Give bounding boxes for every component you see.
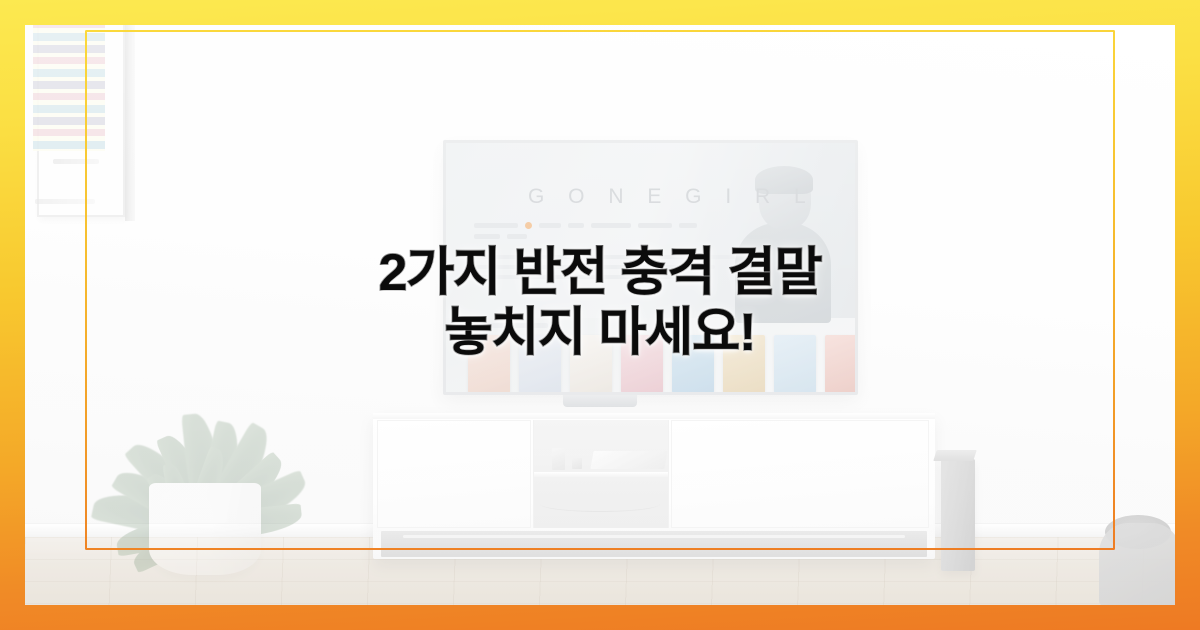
art-signature	[53, 159, 99, 164]
tv-metadata	[474, 223, 764, 245]
tv-movie-title: G O N E G I R L	[528, 185, 815, 209]
poster-card: G O N E G I R L	[0, 0, 1200, 630]
console-door-left	[377, 420, 531, 528]
console-plinth	[381, 531, 927, 557]
tv-stand	[563, 395, 637, 407]
photo-panel: G O N E G I R L	[25, 25, 1175, 605]
tower-speaker	[941, 459, 975, 571]
tv-console	[373, 413, 935, 559]
tv-row-label	[470, 323, 548, 328]
stripe-pattern-icon	[33, 25, 105, 151]
framed-artwork	[37, 25, 125, 217]
console-open-shelf	[533, 420, 669, 528]
wall-edge	[125, 25, 135, 221]
tv-thumbnail-row	[468, 335, 858, 393]
television: G O N E G I R L	[443, 140, 858, 395]
grey-ottoman	[1099, 523, 1175, 605]
console-door-right	[671, 420, 929, 528]
living-room-scene: G O N E G I R L	[25, 25, 1175, 605]
tv-description	[474, 255, 736, 285]
art-caption	[35, 199, 95, 204]
plant-pot	[149, 483, 261, 575]
tv-screen: G O N E G I R L	[446, 143, 855, 392]
potted-plant	[53, 277, 353, 577]
rating-dot-icon	[525, 222, 532, 229]
